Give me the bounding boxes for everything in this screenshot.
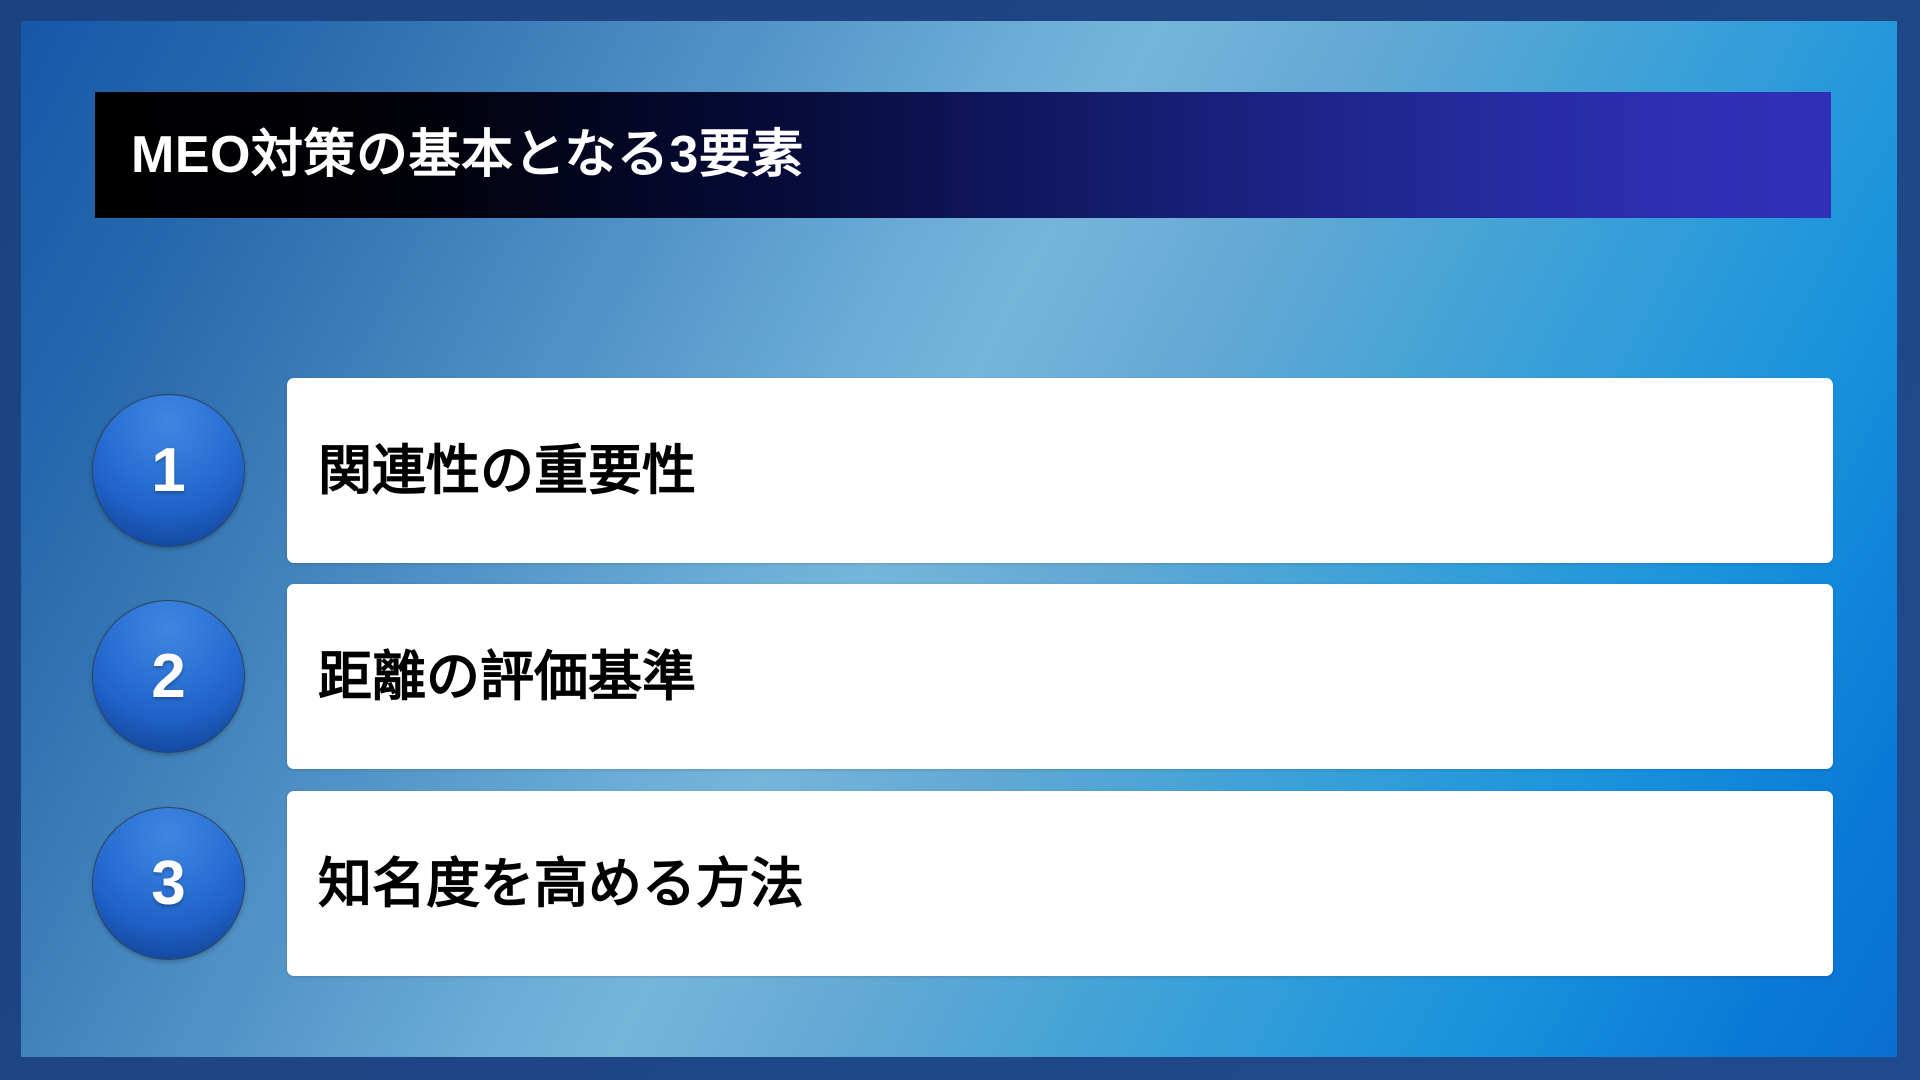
item-number-label: 3 (151, 853, 185, 915)
item-number-badge-3: 3 (92, 807, 245, 960)
item-card-3[interactable]: 知名度を高める方法 (287, 791, 1833, 976)
item-card-label: 関連性の重要性 (318, 444, 696, 498)
item-number-label: 2 (151, 646, 185, 708)
slide-frame: MEO対策の基本となる3要素 1 関連性の重要性 2 距離の評価基準 3 知名度… (0, 0, 1920, 1080)
item-card-2[interactable]: 距離の評価基準 (287, 584, 1833, 769)
page-title: MEO対策の基本となる3要素 (131, 129, 804, 181)
item-card-label: 知名度を高める方法 (318, 857, 804, 911)
item-number-label: 1 (151, 440, 185, 502)
slide-canvas: MEO対策の基本となる3要素 1 関連性の重要性 2 距離の評価基準 3 知名度… (21, 21, 1897, 1057)
item-number-badge-2: 2 (92, 600, 245, 753)
list-item[interactable]: 1 関連性の重要性 (21, 378, 1897, 564)
item-card-1[interactable]: 関連性の重要性 (287, 378, 1833, 563)
item-card-label: 距離の評価基準 (318, 650, 696, 704)
list-item[interactable]: 2 距離の評価基準 (21, 584, 1897, 770)
item-number-badge-1: 1 (92, 394, 245, 547)
list-item[interactable]: 3 知名度を高める方法 (21, 791, 1897, 977)
slide-title-bar: MEO対策の基本となる3要素 (95, 92, 1831, 218)
